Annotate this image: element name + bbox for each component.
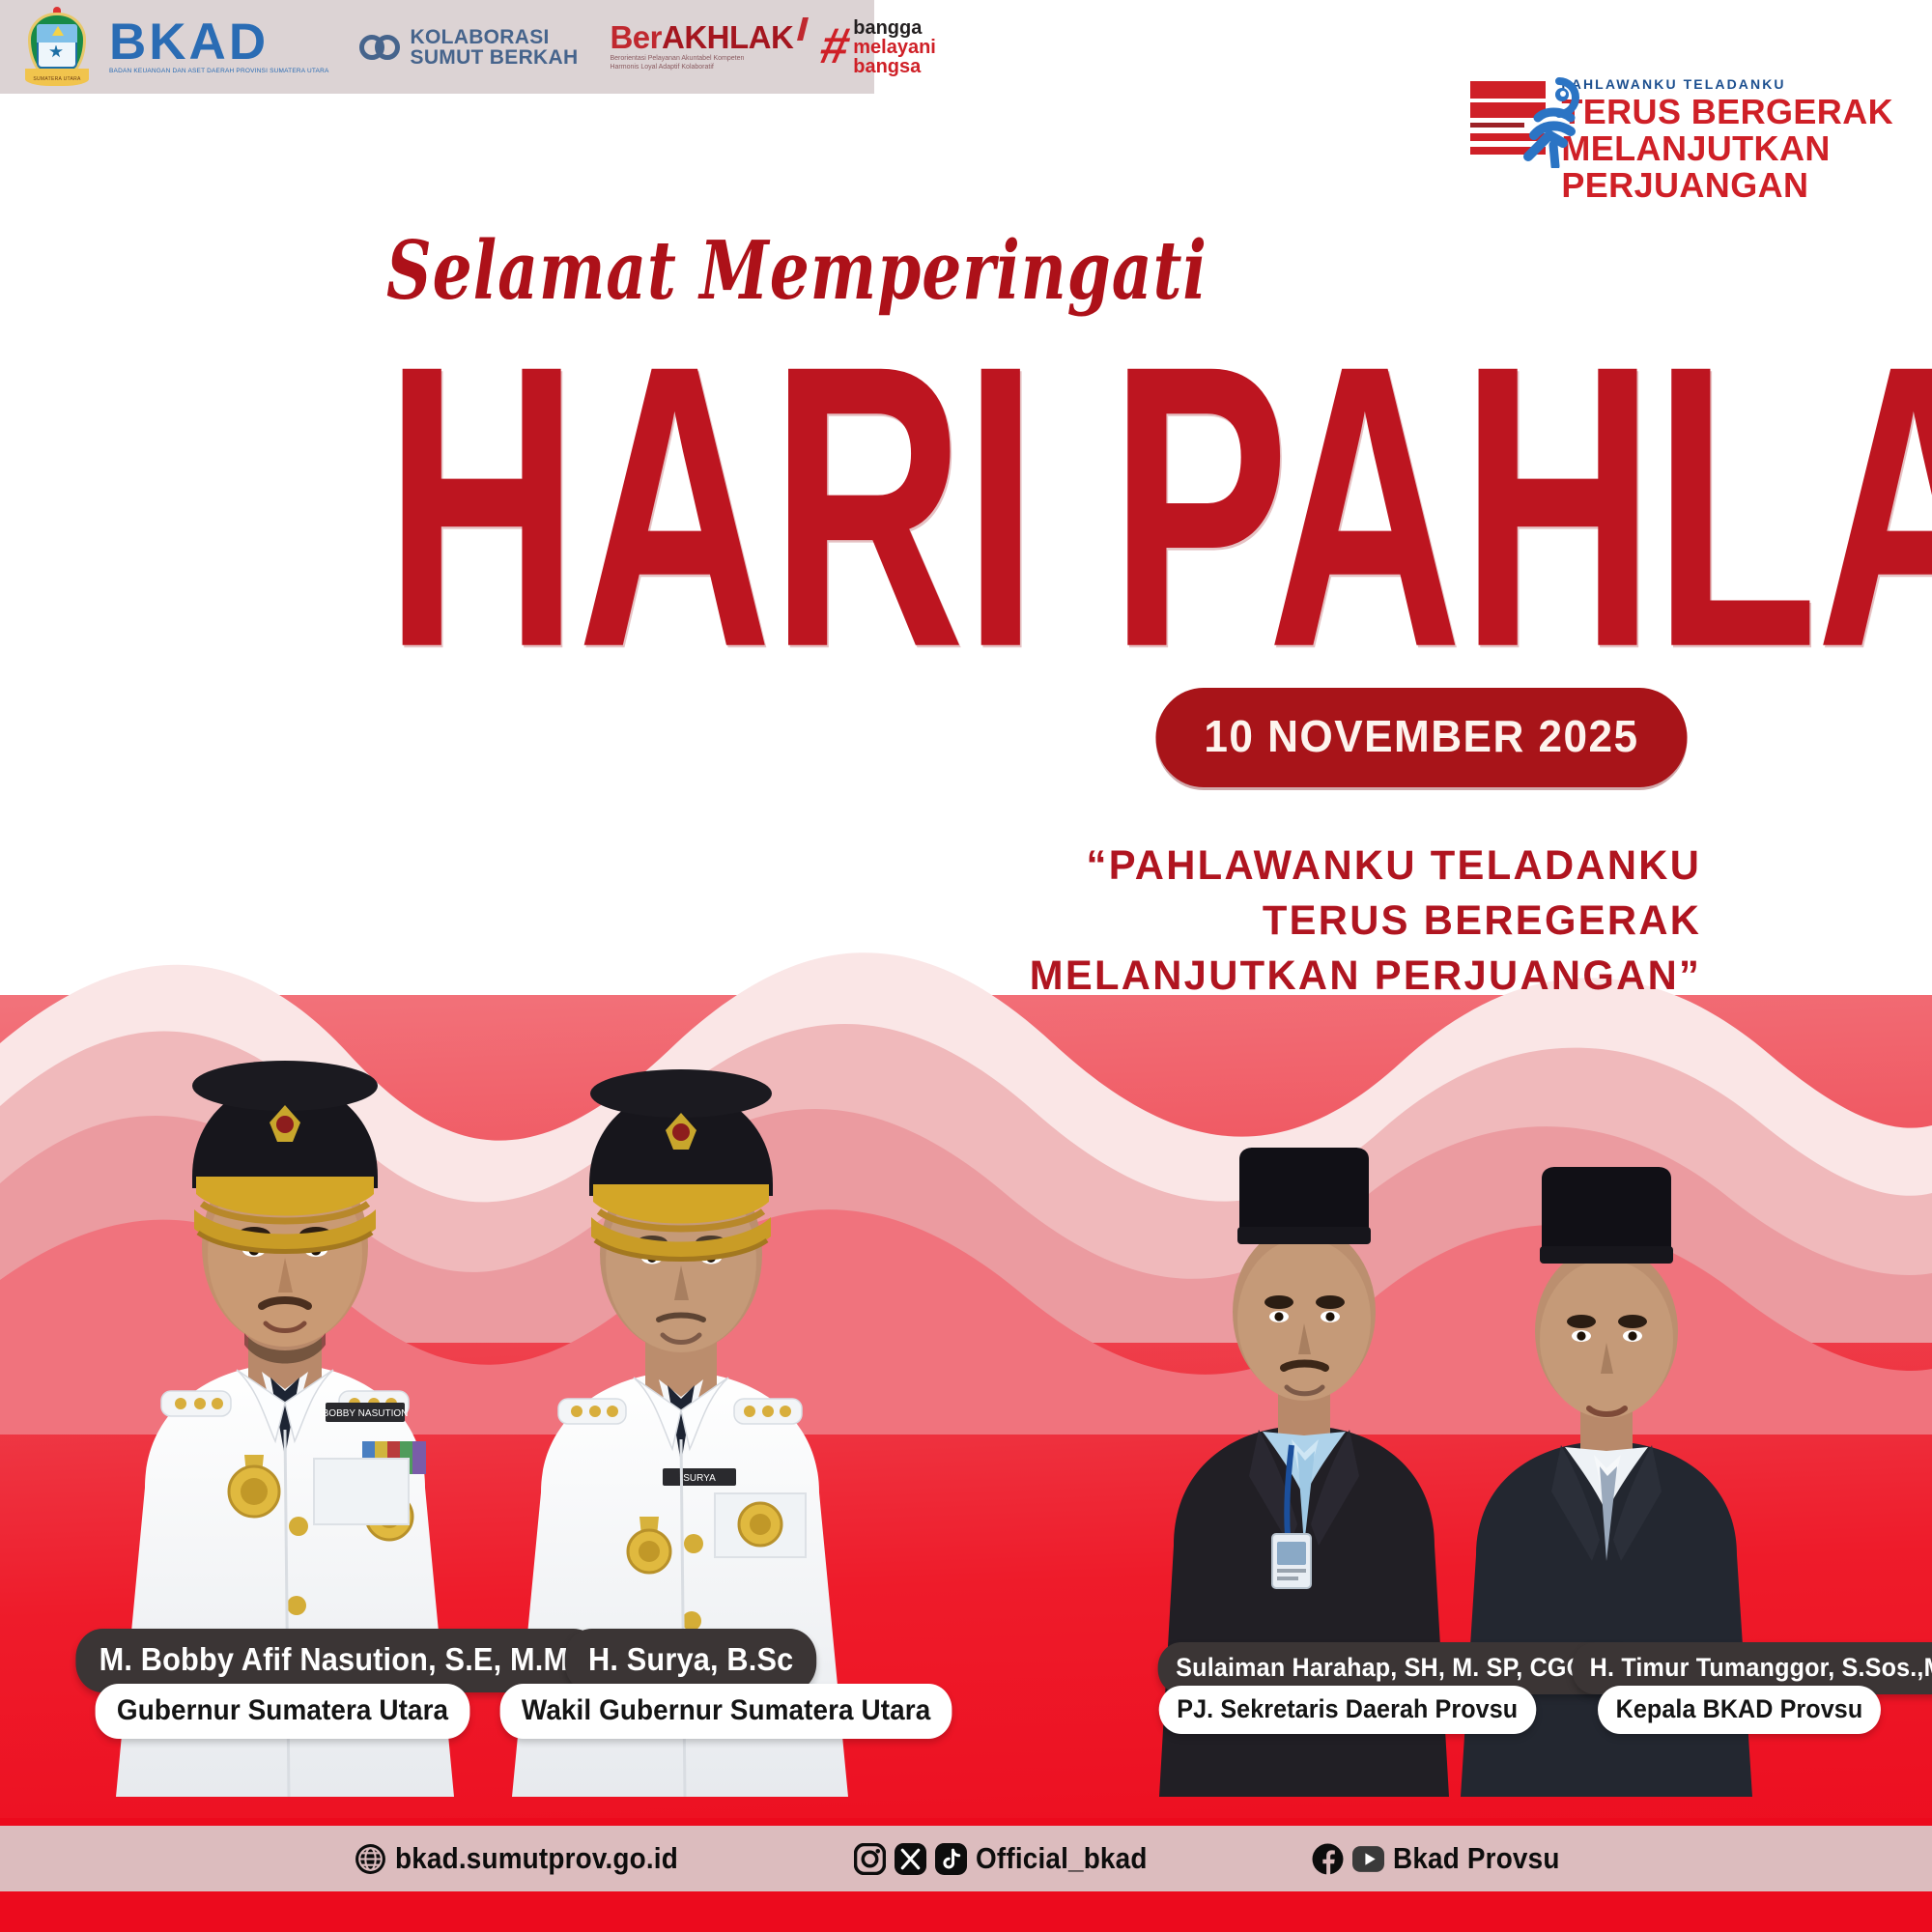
kolaborasi-line1: KOLABORASI — [411, 27, 579, 47]
footer-channels[interactable]: Bkad Provsu — [1312, 1841, 1578, 1876]
bangga-word1: bangga — [853, 18, 936, 38]
bkad-logo: BKAD BADAN KEUANGAN DAN ASET DAERAH PROV… — [109, 19, 329, 75]
hashtag-icon: # — [817, 27, 854, 68]
date-badge: 10 NOVEMBER 2025 — [1155, 688, 1687, 787]
berakhlak-sub-line2: Harmonis Loyal Adaptif Kolaboratif — [610, 64, 793, 72]
vice-governor-role: Wakil Gubernur Sumatera Utara — [500, 1684, 952, 1739]
runner-glyph — [1520, 75, 1590, 168]
governor-role: Gubernur Sumatera Utara — [96, 1684, 470, 1739]
interlocking-rings-icon — [359, 33, 404, 62]
footer-top-rule — [0, 1818, 1932, 1826]
kolaborasi-line2: SUMUT BERKAH — [411, 47, 579, 68]
channel-label: Bkad Provsu — [1393, 1841, 1560, 1876]
social-handle-label: Official_bkad — [976, 1841, 1148, 1876]
bangga-word2: melayani — [853, 38, 936, 57]
quote-line-2: TERUS BEREGERAK — [1030, 894, 1701, 949]
instagram-icon — [854, 1843, 886, 1875]
bkad-subtitle: BADAN KEUANGAN DAN ASET DAERAH PROVINSI … — [109, 68, 329, 74]
emblem-ribbon-text: SUMATERA UTARA — [25, 76, 89, 82]
website-label: bkad.sumutprov.go.id — [395, 1841, 678, 1876]
footer-bottom-bar — [0, 1891, 1932, 1932]
nameplate-bkad-head: H. Timur Tumanggor, S.Sos.,M.A.P Kepala … — [1555, 1642, 1922, 1734]
berakhlak-akhlak: AKHLAK — [662, 19, 793, 55]
svg-text:BOBBY NASUTION: BOBBY NASUTION — [323, 1408, 409, 1419]
hari-pahlawan-poster: SUMATERA UTARA BKAD BADAN KEUANGAN DAN A… — [0, 0, 1932, 1932]
bangga-melayani-bangsa-logo: # bangga melayani bangsa — [821, 18, 936, 76]
running-figure-flag-icon — [1470, 75, 1549, 164]
quote-line-1: “PAHLAWANKU TELADANKU — [1030, 838, 1701, 894]
north-sumatra-provincial-emblem-icon: SUMATERA UTARA — [21, 7, 93, 88]
campaign-logo: PAHLAWANKU TELADANKU TERUS BERGERAK MELA… — [1470, 75, 1893, 204]
regional-secretary-role: PJ. Sekretaris Daerah Provsu — [1159, 1686, 1536, 1734]
footer-bar: bkad.sumutprov.go.id Official_bkad — [0, 1826, 1932, 1891]
facebook-icon — [1312, 1843, 1344, 1875]
x-twitter-icon — [895, 1843, 926, 1875]
bkad-head-role: Kepala BKAD Provsu — [1598, 1686, 1881, 1734]
campaign-line2: MELANJUTKAN — [1561, 130, 1893, 167]
nameplate-regional-secretary: Sulaiman Harahap, SH, M. SP, CGCAE PJ. S… — [1140, 1642, 1555, 1734]
footer-website[interactable]: bkad.sumutprov.go.id — [355, 1841, 710, 1876]
bangga-word3: bangsa — [853, 57, 936, 76]
svg-text:SURYA: SURYA — [683, 1473, 716, 1484]
page-title: HARI PAHLAWAN — [384, 309, 1932, 702]
theme-quote: “PAHLAWANKU TELADANKU TERUS BEREGERAK ME… — [1030, 838, 1701, 1003]
kolaborasi-sumut-berkah-logo: KOLABORASI SUMUT BERKAH — [359, 27, 579, 68]
campaign-line3: PERJUANGAN — [1561, 167, 1893, 204]
footer-social[interactable]: Official_bkad — [854, 1841, 1166, 1876]
top-logo-bar: SUMATERA UTARA BKAD BADAN KEUANGAN DAN A… — [0, 0, 874, 94]
tiktok-icon — [935, 1843, 967, 1875]
quote-line-3: MELANJUTKAN PERJUANGAN” — [1030, 949, 1701, 1004]
nameplate-governor: M. Bobby Afif Nasution, S.E, M.M. Gubern… — [56, 1629, 510, 1739]
campaign-tagline: PAHLAWANKU TELADANKU — [1561, 77, 1893, 91]
berakhlak-sub-line1: Berorientasi Pelayanan Akuntabel Kompete… — [610, 55, 793, 64]
berakhlak-ber: Ber — [610, 19, 662, 55]
berakhlak-logo: BerAKHLAK Berorientasi Pelayanan Akuntab… — [610, 21, 793, 72]
globe-icon — [355, 1843, 386, 1875]
bkad-wordmark: BKAD — [109, 19, 329, 67]
nameplate-vice-governor: H. Surya, B.Sc Wakil Gubernur Sumatera U… — [483, 1629, 898, 1739]
youtube-icon — [1352, 1843, 1384, 1875]
campaign-line1: TERUS BERGERAK — [1561, 94, 1893, 130]
